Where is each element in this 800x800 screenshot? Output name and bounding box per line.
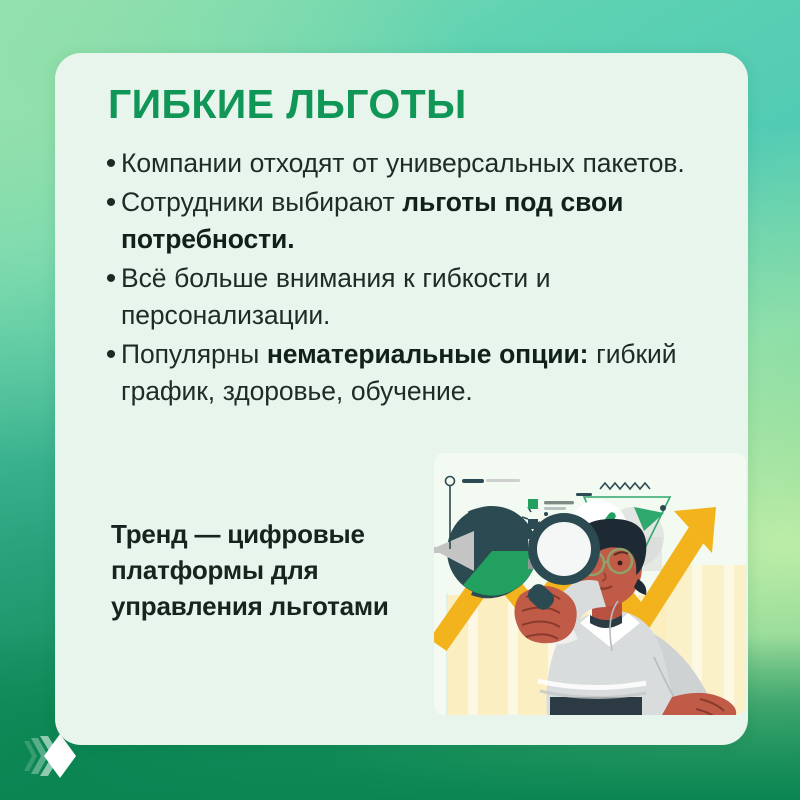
bullet-text: Сотрудники выбирают льготы под свои потр…: [121, 184, 721, 258]
bullet-dot-icon: •: [101, 336, 121, 373]
bullet-text: Всё больше внимания к гибкости и персона…: [121, 260, 721, 334]
trend-note: Тренд — цифровые платформы для управлени…: [111, 516, 441, 624]
bullet-dot-icon: •: [101, 184, 121, 221]
bullet-text: Компании отходят от универсальных пакето…: [121, 145, 685, 182]
page-title: ГИБКИЕ ЛЬГОТЫ: [108, 81, 467, 128]
bullet-dot-icon: •: [101, 260, 121, 297]
bullet-item-1: •Компании отходят от универсальных пакет…: [101, 145, 721, 182]
bullet-list: •Компании отходят от универсальных пакет…: [101, 145, 721, 412]
bullet-item-2: •Сотрудники выбирают льготы под свои пот…: [101, 184, 721, 258]
bullet-item-3: •Всё больше внимания к гибкости и персон…: [101, 260, 721, 334]
content-card: ГИБКИЕ ЛЬГОТЫ •Компании отходят от униве…: [55, 53, 748, 745]
bullet-dot-icon: •: [101, 145, 121, 182]
illustration-person-with-charts: [416, 445, 748, 745]
bullet-text: Популярны нематериальные опции: гибкий г…: [121, 336, 721, 410]
bullet-item-4: •Популярны нематериальные опции: гибкий …: [101, 336, 721, 410]
